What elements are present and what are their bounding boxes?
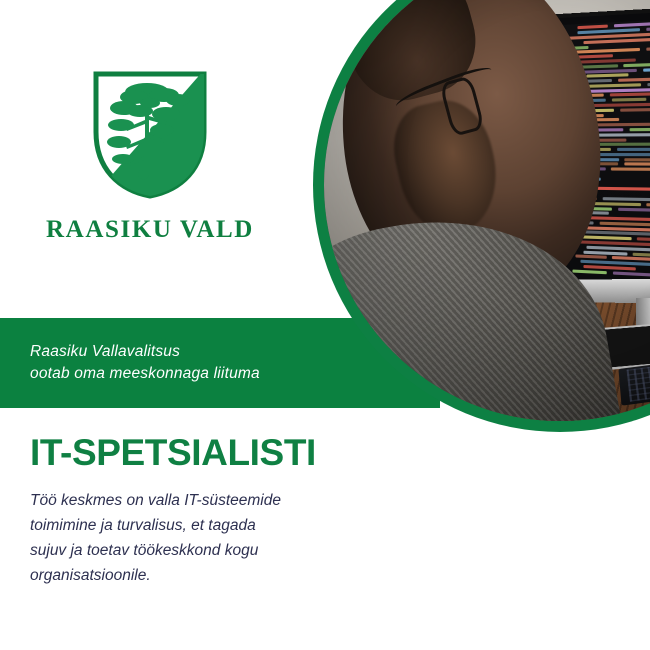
body-line-1: Töö keskmes on valla IT-süsteemide [30,488,340,513]
job-description: Töö keskmes on valla IT-süsteemide toimi… [30,488,340,588]
municipality-name: RAASIKU VALD [0,216,300,244]
banner-line-1: Raasiku Vallavalitsus [30,341,260,363]
coat-of-arms-icon [0,70,300,200]
body-line-4: organisatsioonile. [30,563,340,588]
body-line-3: sujuv ja toetav töökeskkond kogu [30,538,340,563]
job-advert-poster: RAASIKU VALD Raasiku Vallavalitsus ootab… [0,0,650,650]
banner-line-2: ootab oma meeskonnaga liituma [30,363,260,385]
body-line-2: toimimine ja turvalisus, et tagada [30,513,340,538]
banner-text: Raasiku Vallavalitsus ootab oma meeskonn… [0,341,260,385]
job-title-headline: IT-SPETSIALISTI [30,432,316,474]
photo-circle [324,0,650,421]
developer-photo [324,0,650,421]
municipality-branding: RAASIKU VALD [0,70,300,244]
photo-vignette [324,0,650,421]
